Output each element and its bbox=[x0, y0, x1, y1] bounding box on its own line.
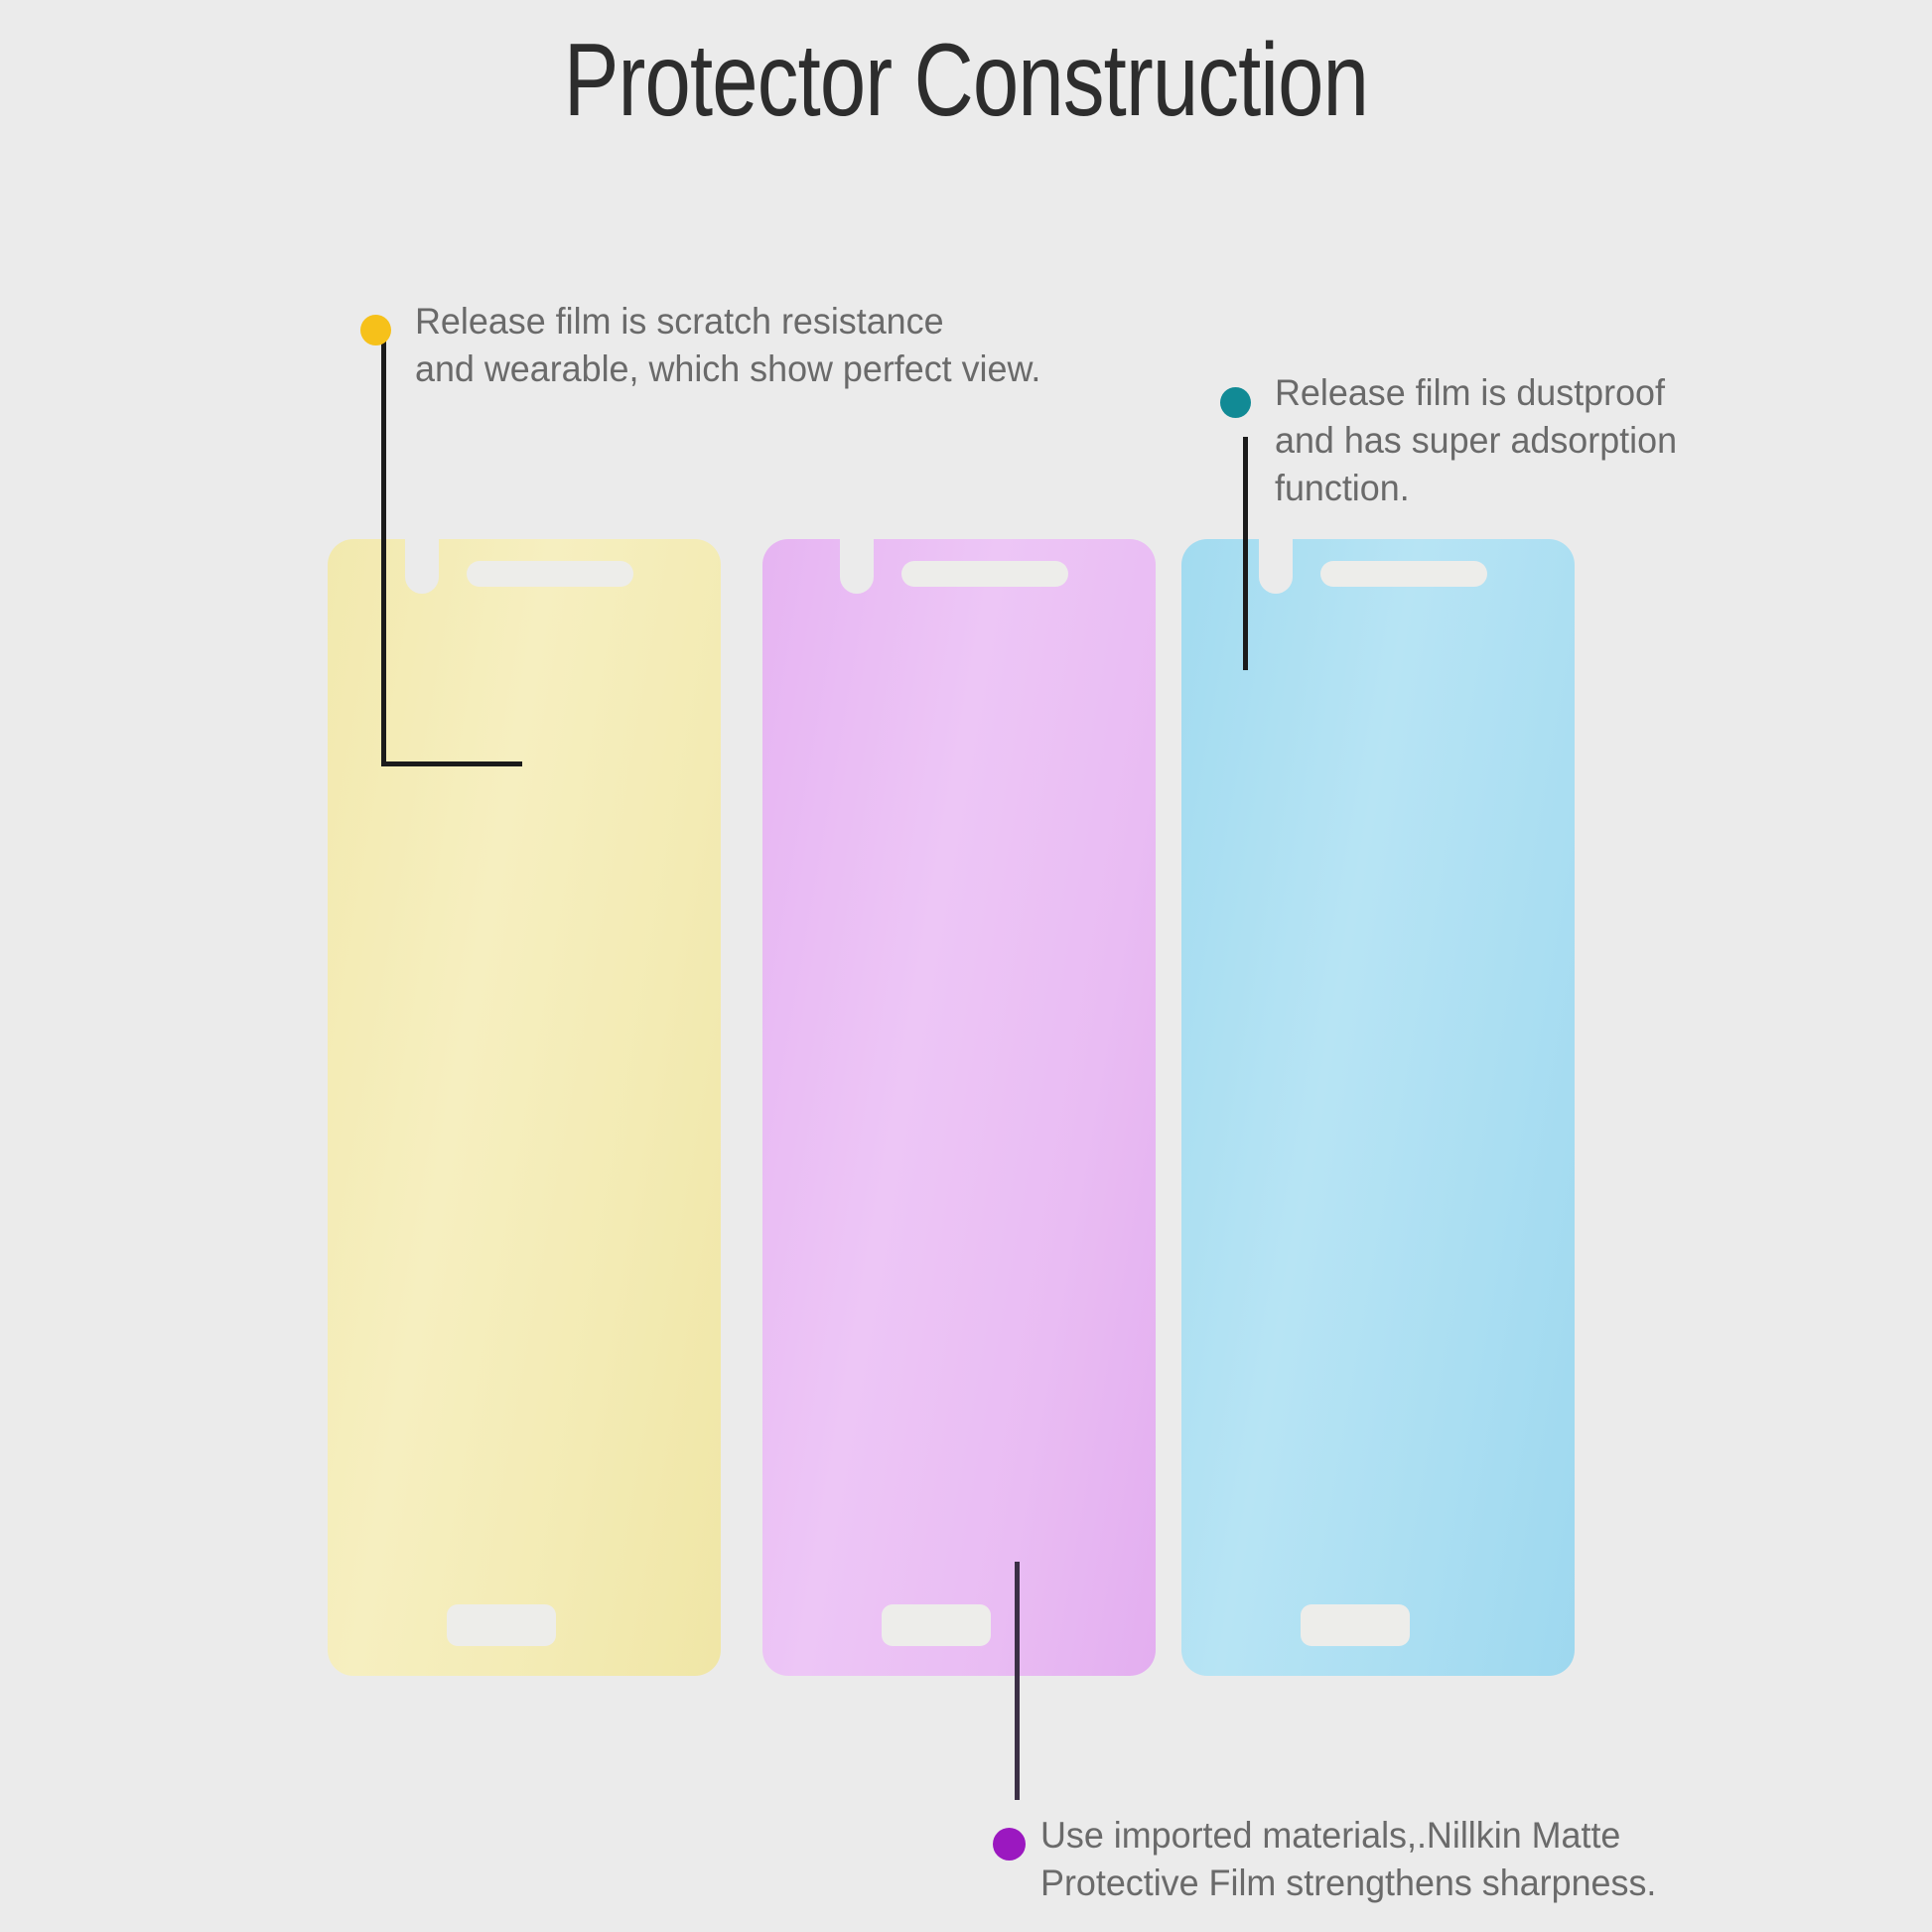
leader-line-scratch-resistance-horizontal bbox=[381, 761, 522, 766]
earpiece-slot-cutout-icon bbox=[1320, 561, 1487, 587]
home-key-cutout-icon bbox=[1301, 1604, 1410, 1646]
camera-notch-cutout-icon bbox=[840, 538, 874, 594]
leader-line-dustproof bbox=[1243, 437, 1248, 670]
home-key-cutout-icon bbox=[447, 1604, 556, 1646]
film-layer-pink bbox=[762, 539, 1156, 1676]
bullet-dot-purple-icon bbox=[993, 1828, 1026, 1861]
annotation-line: function. bbox=[1275, 465, 1677, 512]
earpiece-slot-cutout-icon bbox=[901, 561, 1068, 587]
camera-notch-cutout-icon bbox=[1259, 538, 1293, 594]
annotation-line: Protective Film strengthens sharpness. bbox=[1040, 1860, 1656, 1907]
bullet-dot-yellow-icon bbox=[360, 315, 391, 345]
annotation-line: Use imported materials,.Nillkin Matte bbox=[1040, 1812, 1656, 1860]
annotation-line: Release film is dustproof bbox=[1275, 369, 1677, 417]
camera-notch-cutout-icon bbox=[405, 538, 439, 594]
film-layer-yellow bbox=[328, 539, 721, 1676]
home-key-cutout-icon bbox=[882, 1604, 991, 1646]
annotation-line: and wearable, which show perfect view. bbox=[415, 345, 1040, 393]
film-layer-blue bbox=[1181, 539, 1575, 1676]
annotation-scratch-resistance-text: Release film is scratch resistance and w… bbox=[415, 298, 1040, 393]
earpiece-slot-cutout-icon bbox=[467, 561, 633, 587]
annotation-line: Release film is scratch resistance bbox=[415, 298, 1040, 345]
annotation-imported-materials-text: Use imported materials,.Nillkin Matte Pr… bbox=[1040, 1812, 1656, 1907]
leader-line-scratch-resistance-vertical bbox=[381, 330, 386, 766]
leader-line-imported-materials bbox=[1015, 1562, 1020, 1800]
annotation-line: and has super adsorption bbox=[1275, 417, 1677, 465]
protector-construction-diagram: Protector Construction Release film is s… bbox=[0, 0, 1932, 1932]
page-title: Protector Construction bbox=[194, 22, 1739, 141]
annotation-dustproof-text: Release film is dustproof and has super … bbox=[1275, 369, 1677, 512]
bullet-dot-teal-icon bbox=[1220, 387, 1251, 418]
